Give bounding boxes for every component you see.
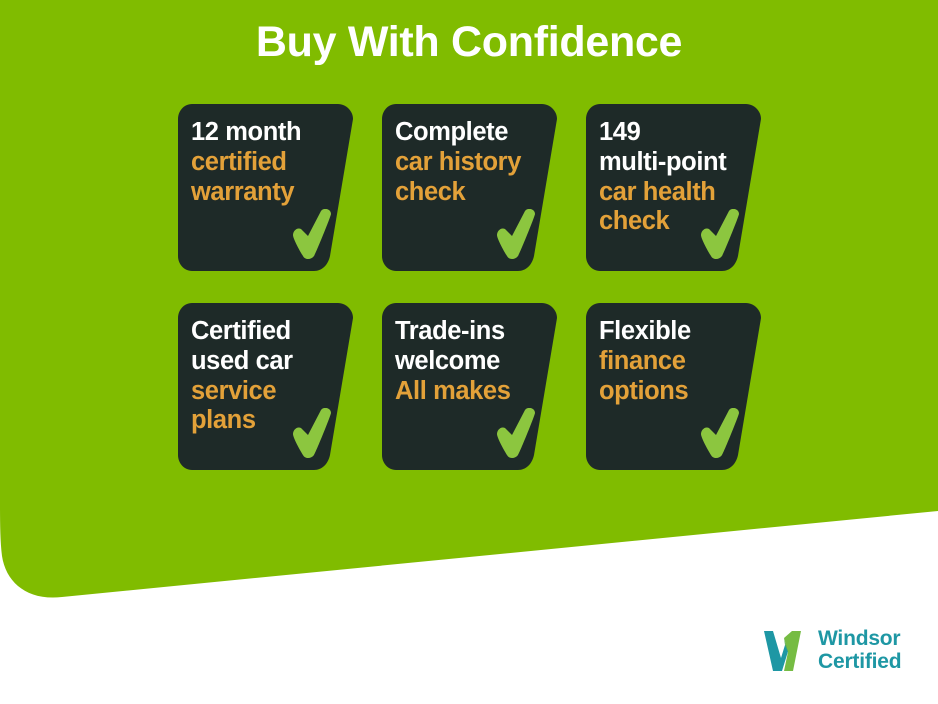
feature-card[interactable]: Certified used car service plans [178,303,353,470]
card-text-block: 12 month certified warranty [191,118,339,207]
feature-card[interactable]: Flexible finance options [586,303,761,470]
card-text-block: Complete car history check [395,118,543,207]
logo-line-windsor: Windsor [818,628,901,651]
card-heading-line: 149 [599,118,747,148]
card-accent-line: certified [191,148,339,178]
card-accent-line: warranty [191,178,339,208]
card-heading-line: welcome [395,347,543,377]
logo-line-certified: Certified [818,651,901,674]
card-accent-line: service [191,377,339,407]
card-accent-line: check [395,178,543,208]
check-icon [494,209,538,261]
windsor-certified-logo[interactable]: Windsor Certified [762,628,901,674]
card-accent-line: finance [599,347,747,377]
card-accent-line: car health [599,178,747,208]
feature-card[interactable]: 12 month certified warranty [178,104,353,271]
card-accent-line: car history [395,148,543,178]
check-icon [290,408,334,460]
card-heading-line: used car [191,347,339,377]
page-title: Buy With Confidence [0,18,938,67]
card-accent-line: All makes [395,377,543,407]
feature-card[interactable]: 149 multi-point car health check [586,104,761,271]
card-heading-line: Flexible [599,317,747,347]
card-text-block: Flexible finance options [599,317,747,406]
feature-card[interactable]: Trade-ins welcome All makes [382,303,557,470]
card-text-block: Trade-ins welcome All makes [395,317,543,406]
card-heading-line: multi-point [599,148,747,178]
card-heading-line: Trade-ins [395,317,543,347]
feature-card[interactable]: Complete car history check [382,104,557,271]
card-heading-line: Certified [191,317,339,347]
check-icon [494,408,538,460]
card-heading-line: Complete [395,118,543,148]
check-icon [698,209,742,261]
logo-wordmark: Windsor Certified [818,628,901,673]
check-icon [290,209,334,261]
promo-banner: Buy With Confidence 12 month certified w… [0,0,938,704]
check-icon [698,408,742,460]
windsor-w-icon [762,628,810,674]
card-heading-line: 12 month [191,118,339,148]
card-accent-line: options [599,377,747,407]
